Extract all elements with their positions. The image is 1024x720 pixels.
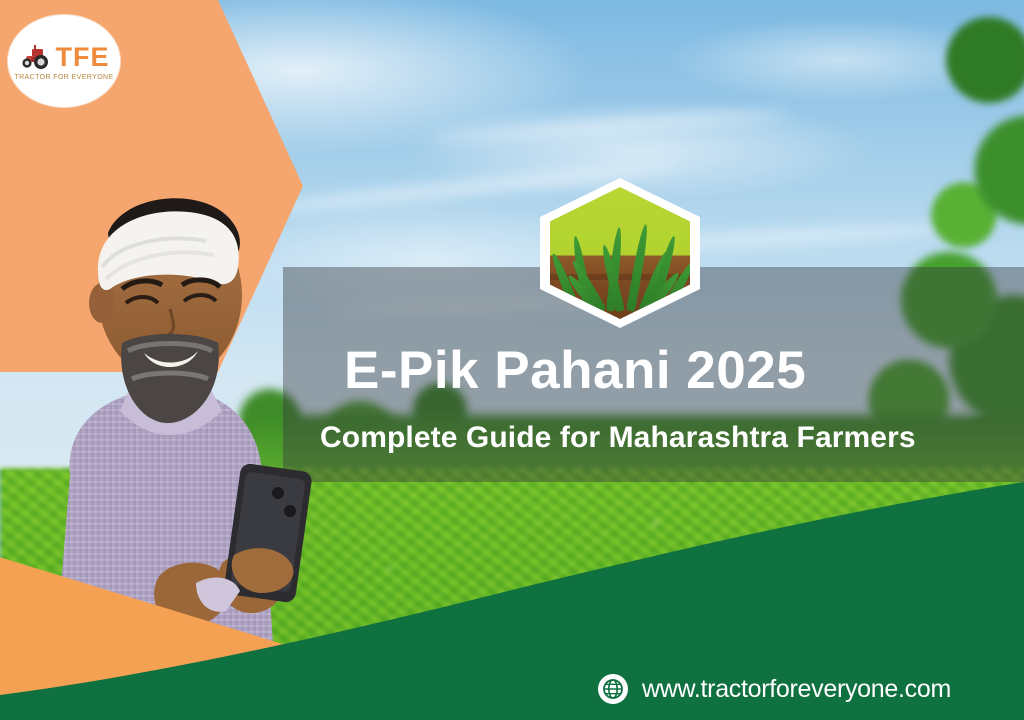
tractor-icon [19,44,53,70]
page-title: E-Pik Pahani 2025 [344,343,1004,399]
cloud-streak [430,107,790,144]
ear [89,283,115,323]
footer-url-text: www.tractorforeveryone.com [642,675,951,704]
logo-tagline: TRACTOR FOR EVERYONE [14,74,113,81]
crop-hexagon-badge [540,178,700,328]
banner-canvas: E-Pik Pahani 2025 Complete Guide for Mah… [0,0,1024,720]
footer-website-link[interactable]: www.tractorforeveryone.com [598,674,951,704]
logo-wordmark: TFE [56,44,110,71]
globe-icon [598,674,628,704]
brand-logo-badge[interactable]: TFE TRACTOR FOR EVERYONE [8,15,120,107]
page-subtitle: Complete Guide for Maharashtra Farmers [320,420,1010,456]
logo-row: TFE [19,44,110,71]
